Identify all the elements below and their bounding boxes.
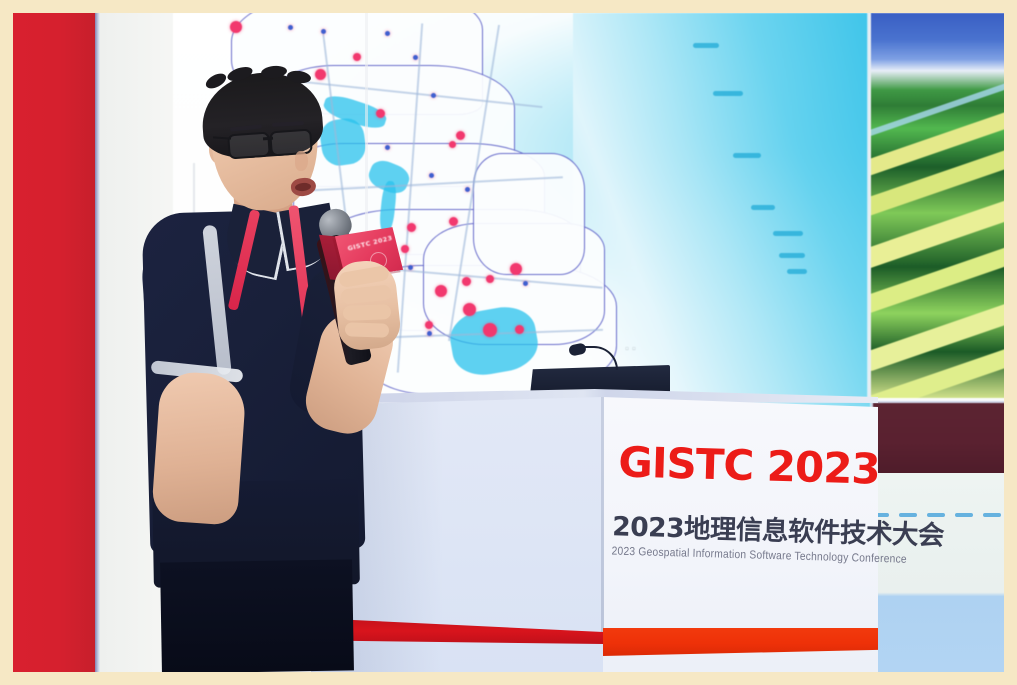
speaker-figure: GISTC 2023 [13, 13, 1004, 672]
trousers [160, 559, 354, 672]
nose [295, 151, 308, 171]
conference-photo: ▫▫▫ ▫▫ [0, 0, 1017, 685]
finger [345, 322, 389, 338]
glasses-right-lens [269, 129, 313, 157]
left-arm [151, 370, 247, 526]
finger [343, 304, 391, 321]
glasses-left-lens [227, 132, 271, 160]
photo-scene: ▫▫▫ ▫▫ [13, 13, 1004, 672]
